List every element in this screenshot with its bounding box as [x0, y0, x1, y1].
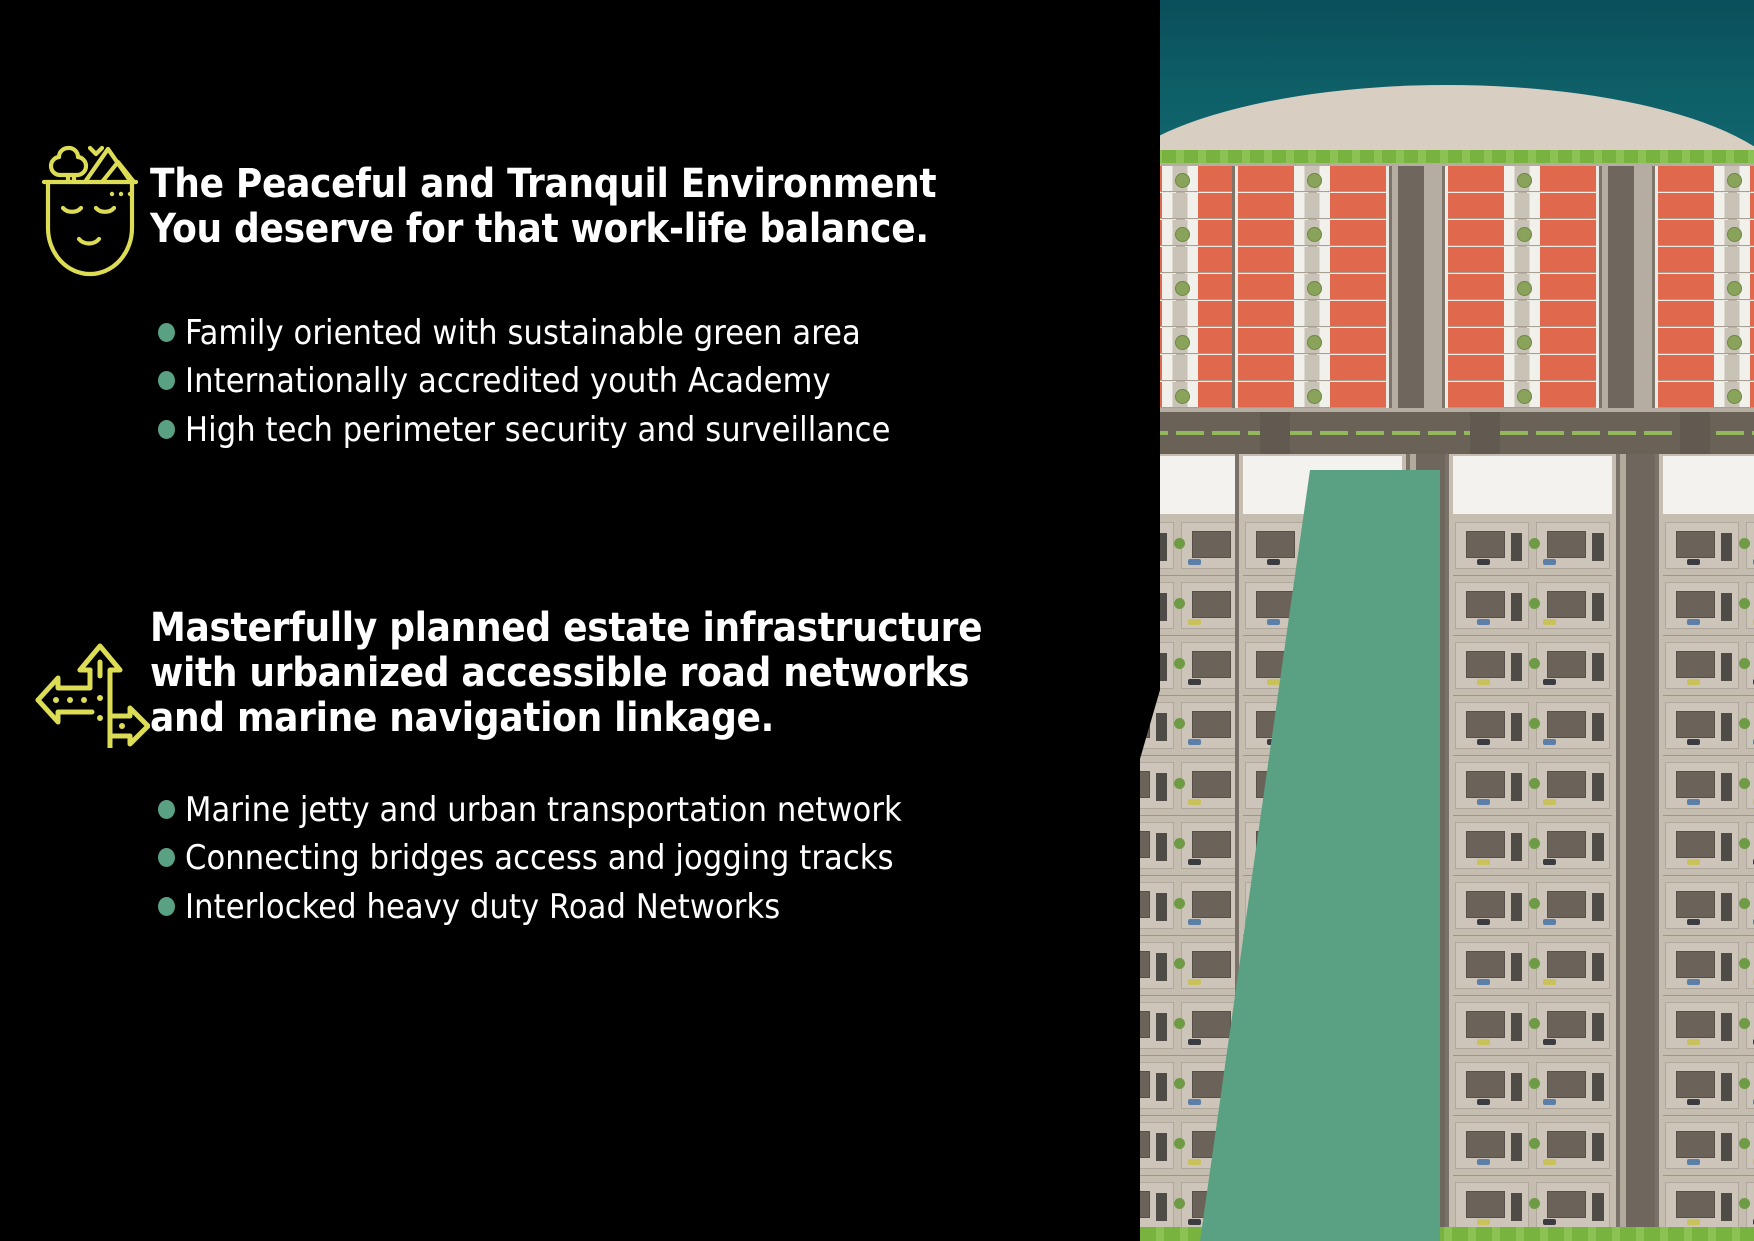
plot-row [1453, 698, 1612, 756]
house-plot [1326, 942, 1401, 989]
open-plot [1243, 456, 1402, 514]
parked-car [1477, 739, 1490, 745]
house-plot [1665, 762, 1740, 809]
house-plot [1245, 942, 1320, 989]
house-roof [1256, 1191, 1295, 1218]
residential-block [1445, 454, 1620, 1241]
house-roof [1192, 531, 1231, 558]
plot-row [1453, 998, 1612, 1056]
parked-car [1477, 679, 1490, 685]
bullet-dot-icon [158, 420, 175, 439]
building-shadow [1721, 833, 1733, 861]
house-plot [1455, 642, 1530, 689]
residential-block [1655, 454, 1754, 1241]
house-roof [1466, 831, 1505, 858]
plot-row [1243, 1058, 1402, 1116]
building-shadow [1721, 713, 1733, 741]
slide-root: The Peaceful and Tranquil Environment Yo… [0, 0, 1754, 1241]
terrace-row [1238, 193, 1386, 219]
access-road [1416, 454, 1448, 1241]
house-plot [1326, 642, 1401, 689]
terrace-row [1658, 247, 1754, 273]
house-roof [1256, 891, 1295, 918]
building-shadow [1511, 1193, 1523, 1221]
list-item: Family oriented with sustainable green a… [158, 309, 936, 357]
terrace-row [1658, 355, 1754, 381]
parked-car [1477, 1219, 1490, 1225]
plot-row [1663, 518, 1754, 576]
building-shadow [1382, 1133, 1394, 1161]
parked-car [1333, 799, 1346, 805]
house-plot [1536, 1002, 1611, 1049]
bullet-text: Internationally accredited youth Academy [185, 357, 831, 405]
house-plot [1326, 882, 1401, 929]
house-roof [1676, 1011, 1715, 1038]
building-shadow [1156, 1133, 1168, 1161]
terrace-row [1448, 193, 1596, 219]
building-shadow [1592, 1013, 1604, 1041]
building-shadow [1721, 953, 1733, 981]
parked-car [1188, 559, 1201, 565]
parked-car [1543, 679, 1556, 685]
house-plot [1536, 882, 1611, 929]
parked-car [1267, 919, 1280, 925]
building-shadow [1721, 653, 1733, 681]
building-shadow [1301, 833, 1313, 861]
house-plot [1665, 1122, 1740, 1169]
red-roof-district [1140, 150, 1754, 412]
house-plot [1455, 882, 1530, 929]
terrace-row [1238, 355, 1386, 381]
house-roof [1140, 1131, 1150, 1158]
house-roof [1140, 1071, 1150, 1098]
parked-car [1687, 619, 1700, 625]
peaceful-mind-landscape-icon [0, 130, 150, 281]
plot-row [1453, 1058, 1612, 1116]
building-shadow [1592, 533, 1604, 561]
plot-row [1243, 638, 1402, 696]
building-shadow [1592, 1133, 1604, 1161]
feature-2-heading: Masterfully planned estate infrastructur… [150, 592, 982, 742]
house-roof [1547, 1131, 1586, 1158]
parked-car [1267, 799, 1280, 805]
building-shadow [1511, 713, 1523, 741]
house-roof [1337, 711, 1376, 738]
building-shadow [1382, 833, 1394, 861]
building-shadow [1382, 1193, 1394, 1221]
plot-row [1243, 1118, 1402, 1176]
plot-row [1453, 1118, 1612, 1176]
building-shadow [1592, 713, 1604, 741]
house-roof [1676, 831, 1715, 858]
building-shadow [1301, 1073, 1313, 1101]
parked-car [1543, 1099, 1556, 1105]
access-road [1398, 166, 1424, 408]
house-roof [1337, 891, 1376, 918]
list-item: High tech perimeter security and surveil… [158, 406, 936, 454]
house-plot [1140, 1002, 1174, 1049]
house-roof [1676, 891, 1715, 918]
building-shadow [1592, 773, 1604, 801]
bullet-dot-icon [158, 800, 175, 819]
tree-icon [1308, 282, 1321, 295]
house-plot [1455, 822, 1530, 869]
terrace-row [1658, 193, 1754, 219]
parked-car [1267, 619, 1280, 625]
house-roof [1547, 1071, 1586, 1098]
parked-car [1687, 1039, 1700, 1045]
house-plot [1326, 522, 1401, 569]
plot-row [1663, 938, 1754, 996]
house-roof [1192, 771, 1231, 798]
green-verge-top [1140, 150, 1754, 163]
building-shadow [1382, 1073, 1394, 1101]
plot-row [1663, 878, 1754, 936]
parked-car [1477, 859, 1490, 865]
building-shadow [1511, 1073, 1523, 1101]
house-roof [1676, 1071, 1715, 1098]
parked-car [1543, 1219, 1556, 1225]
bullet-text: Marine jetty and urban transportation ne… [185, 786, 902, 834]
tree-icon [1308, 228, 1321, 241]
house-plot [1245, 822, 1320, 869]
house-plot [1536, 582, 1611, 629]
house-roof [1192, 591, 1231, 618]
parked-car [1188, 859, 1201, 865]
house-plot [1455, 1182, 1530, 1229]
tree-icon [1308, 174, 1321, 187]
tree-icon [1176, 390, 1189, 403]
building-shadow [1511, 653, 1523, 681]
building-shadow [1301, 773, 1313, 801]
house-plot [1245, 882, 1320, 929]
list-item: Internationally accredited youth Academy [158, 357, 936, 405]
building-shadow [1301, 593, 1313, 621]
building-shadow [1301, 1193, 1313, 1221]
house-roof [1547, 1191, 1586, 1218]
house-roof [1192, 1071, 1231, 1098]
house-roof [1466, 1191, 1505, 1218]
house-roof [1337, 1071, 1376, 1098]
house-plot [1455, 1062, 1530, 1109]
building-shadow [1382, 893, 1394, 921]
building-shadow [1721, 893, 1733, 921]
plot-row [1243, 578, 1402, 636]
plot-row [1453, 878, 1612, 936]
house-plot [1326, 582, 1401, 629]
house-roof [1192, 831, 1231, 858]
building-shadow [1511, 953, 1523, 981]
tree-icon [1176, 174, 1189, 187]
parked-car [1477, 799, 1490, 805]
plot-row [1663, 1058, 1754, 1116]
house-roof [1140, 951, 1150, 978]
house-plot [1665, 1062, 1740, 1109]
house-roof [1466, 711, 1505, 738]
house-plot [1665, 882, 1740, 929]
house-plot [1455, 1122, 1530, 1169]
tree-icon [1728, 336, 1741, 349]
building-shadow [1592, 1073, 1604, 1101]
house-roof [1466, 651, 1505, 678]
house-roof [1676, 531, 1715, 558]
house-plot [1665, 642, 1740, 689]
house-plot [1665, 1182, 1740, 1229]
parked-car [1267, 859, 1280, 865]
main-arterial-road [1140, 412, 1754, 454]
house-plot [1245, 702, 1320, 749]
road-network-arrows-icon [0, 592, 150, 748]
parked-car [1543, 559, 1556, 565]
content-panel: The Peaceful and Tranquil Environment Yo… [0, 0, 1160, 1241]
parked-car [1477, 1099, 1490, 1105]
residential-block [1235, 454, 1410, 1241]
house-roof [1337, 1011, 1376, 1038]
parked-car [1687, 919, 1700, 925]
grey-roof-district [1140, 454, 1754, 1241]
parked-car [1543, 859, 1556, 865]
plot-row [1453, 518, 1612, 576]
house-plot [1245, 1122, 1320, 1169]
house-plot [1140, 822, 1174, 869]
terrace-block [1652, 166, 1754, 408]
plot-row [1243, 998, 1402, 1056]
house-plot [1326, 1182, 1401, 1229]
bullet-text: Interlocked heavy duty Road Networks [185, 883, 780, 931]
parked-car [1477, 919, 1490, 925]
house-plot [1665, 1002, 1740, 1049]
building-shadow [1592, 593, 1604, 621]
parked-car [1267, 1099, 1280, 1105]
house-roof [1337, 651, 1376, 678]
building-shadow [1721, 773, 1733, 801]
house-roof [1192, 1191, 1231, 1218]
parked-car [1188, 619, 1201, 625]
house-roof [1256, 711, 1295, 738]
house-roof [1676, 591, 1715, 618]
building-shadow [1156, 893, 1168, 921]
building-shadow [1721, 533, 1733, 561]
tree-icon [1728, 174, 1741, 187]
building-shadow [1511, 893, 1523, 921]
tree-icon [1176, 336, 1189, 349]
parked-car [1188, 799, 1201, 805]
house-roof [1140, 891, 1150, 918]
house-roof [1676, 711, 1715, 738]
house-plot [1455, 522, 1530, 569]
house-roof [1192, 1011, 1231, 1038]
house-roof [1547, 591, 1586, 618]
parked-car [1333, 979, 1346, 985]
tree-icon [1176, 228, 1189, 241]
tree-icon [1518, 282, 1531, 295]
tree-icon [1518, 174, 1531, 187]
house-roof [1676, 1131, 1715, 1158]
parked-car [1543, 979, 1556, 985]
house-roof [1466, 1131, 1505, 1158]
parked-car [1188, 1159, 1201, 1165]
building-shadow [1721, 1133, 1733, 1161]
parked-car [1333, 859, 1346, 865]
house-plot [1536, 822, 1611, 869]
building-shadow [1156, 713, 1168, 741]
house-plot [1665, 582, 1740, 629]
list-item: Marine jetty and urban transportation ne… [158, 786, 982, 834]
house-roof [1337, 951, 1376, 978]
parked-car [1543, 1159, 1556, 1165]
building-shadow [1721, 1073, 1733, 1101]
house-plot [1536, 1122, 1611, 1169]
parked-car [1333, 739, 1346, 745]
house-roof [1547, 951, 1586, 978]
bullet-dot-icon [158, 897, 175, 916]
house-plot [1665, 522, 1740, 569]
parked-car [1477, 559, 1490, 565]
bullet-text: Family oriented with sustainable green a… [185, 309, 861, 357]
parked-car [1267, 1219, 1280, 1225]
tree-icon [1728, 390, 1741, 403]
building-shadow [1511, 593, 1523, 621]
parked-car [1687, 1159, 1700, 1165]
building-shadow [1156, 773, 1168, 801]
plot-row [1243, 518, 1402, 576]
house-plot [1140, 882, 1174, 929]
feature-block-2: Masterfully planned estate infrastructur… [0, 592, 982, 931]
parked-car [1333, 1159, 1346, 1165]
parked-car [1267, 979, 1280, 985]
parked-car [1687, 1219, 1700, 1225]
parked-car [1333, 619, 1346, 625]
plot-row [1663, 698, 1754, 756]
house-plot [1245, 642, 1320, 689]
house-plot [1536, 702, 1611, 749]
house-plot [1245, 1002, 1320, 1049]
parked-car [1687, 679, 1700, 685]
house-roof [1547, 771, 1586, 798]
bullet-text: High tech perimeter security and surveil… [185, 406, 891, 454]
bullet-text: Connecting bridges access and jogging tr… [185, 834, 894, 882]
house-plot [1665, 942, 1740, 989]
parked-car [1267, 1039, 1280, 1045]
house-roof [1256, 831, 1295, 858]
house-roof [1547, 891, 1586, 918]
cross-road [1260, 412, 1290, 454]
building-shadow [1511, 1013, 1523, 1041]
cross-road [1680, 412, 1710, 454]
parked-car [1543, 1039, 1556, 1045]
building-shadow [1382, 1013, 1394, 1041]
house-roof [1466, 1011, 1505, 1038]
building-shadow [1301, 1133, 1313, 1161]
plot-row [1243, 818, 1402, 876]
house-roof [1256, 951, 1295, 978]
bullet-dot-icon [158, 323, 175, 342]
parked-car [1477, 619, 1490, 625]
house-roof [1676, 651, 1715, 678]
house-plot [1326, 1062, 1401, 1109]
terrace-row [1448, 247, 1596, 273]
house-plot [1665, 822, 1740, 869]
house-roof [1676, 771, 1715, 798]
building-shadow [1592, 833, 1604, 861]
parked-car [1333, 559, 1346, 565]
tree-icon [1728, 282, 1741, 295]
plot-row [1663, 578, 1754, 636]
plot-row [1243, 698, 1402, 756]
building-shadow [1592, 653, 1604, 681]
house-plot [1140, 1062, 1174, 1109]
bullet-dot-icon [158, 371, 175, 390]
house-roof [1192, 951, 1231, 978]
terrace-row [1238, 247, 1386, 273]
plot-row [1663, 1118, 1754, 1176]
house-roof [1256, 651, 1295, 678]
house-plot [1536, 642, 1611, 689]
access-road [1608, 166, 1634, 408]
house-plot [1245, 1062, 1320, 1109]
green-verge-bottom [1140, 1227, 1754, 1241]
parked-car [1267, 679, 1280, 685]
house-roof [1676, 951, 1715, 978]
feature-1-heading: The Peaceful and Tranquil Environment Yo… [150, 130, 936, 252]
building-shadow [1301, 893, 1313, 921]
plot-row [1453, 938, 1612, 996]
parked-car [1333, 679, 1346, 685]
building-shadow [1301, 653, 1313, 681]
parked-car [1333, 919, 1346, 925]
plot-row [1663, 758, 1754, 816]
building-shadow [1592, 1193, 1604, 1221]
parked-car [1333, 1099, 1346, 1105]
tree-icon [1728, 228, 1741, 241]
house-roof [1140, 1011, 1150, 1038]
parked-car [1687, 859, 1700, 865]
parked-car [1543, 619, 1556, 625]
house-plot [1536, 1062, 1611, 1109]
house-plot [1536, 1182, 1611, 1229]
parked-car [1543, 919, 1556, 925]
parked-car [1477, 1159, 1490, 1165]
house-plot [1665, 702, 1740, 749]
building-shadow [1301, 533, 1313, 561]
plot-row [1453, 818, 1612, 876]
house-roof [1547, 651, 1586, 678]
terrace-block [1442, 166, 1602, 408]
feature-1-bullet-list: Family oriented with sustainable green a… [0, 309, 936, 454]
house-roof [1547, 1011, 1586, 1038]
house-roof [1337, 1191, 1376, 1218]
house-plot [1326, 822, 1401, 869]
house-roof [1256, 1131, 1295, 1158]
house-roof [1192, 711, 1231, 738]
house-roof [1547, 531, 1586, 558]
tree-icon [1308, 336, 1321, 349]
house-plot [1245, 762, 1320, 809]
feature-block-1: The Peaceful and Tranquil Environment Yo… [0, 130, 936, 454]
building-shadow [1721, 1013, 1733, 1041]
house-plot [1140, 942, 1174, 989]
building-shadow [1301, 713, 1313, 741]
building-shadow [1382, 653, 1394, 681]
open-plot [1453, 456, 1612, 514]
building-shadow [1301, 953, 1313, 981]
house-plot [1326, 702, 1401, 749]
house-roof [1337, 531, 1376, 558]
parked-car [1267, 739, 1280, 745]
parked-car [1188, 739, 1201, 745]
plot-row [1453, 638, 1612, 696]
parked-car [1188, 979, 1201, 985]
